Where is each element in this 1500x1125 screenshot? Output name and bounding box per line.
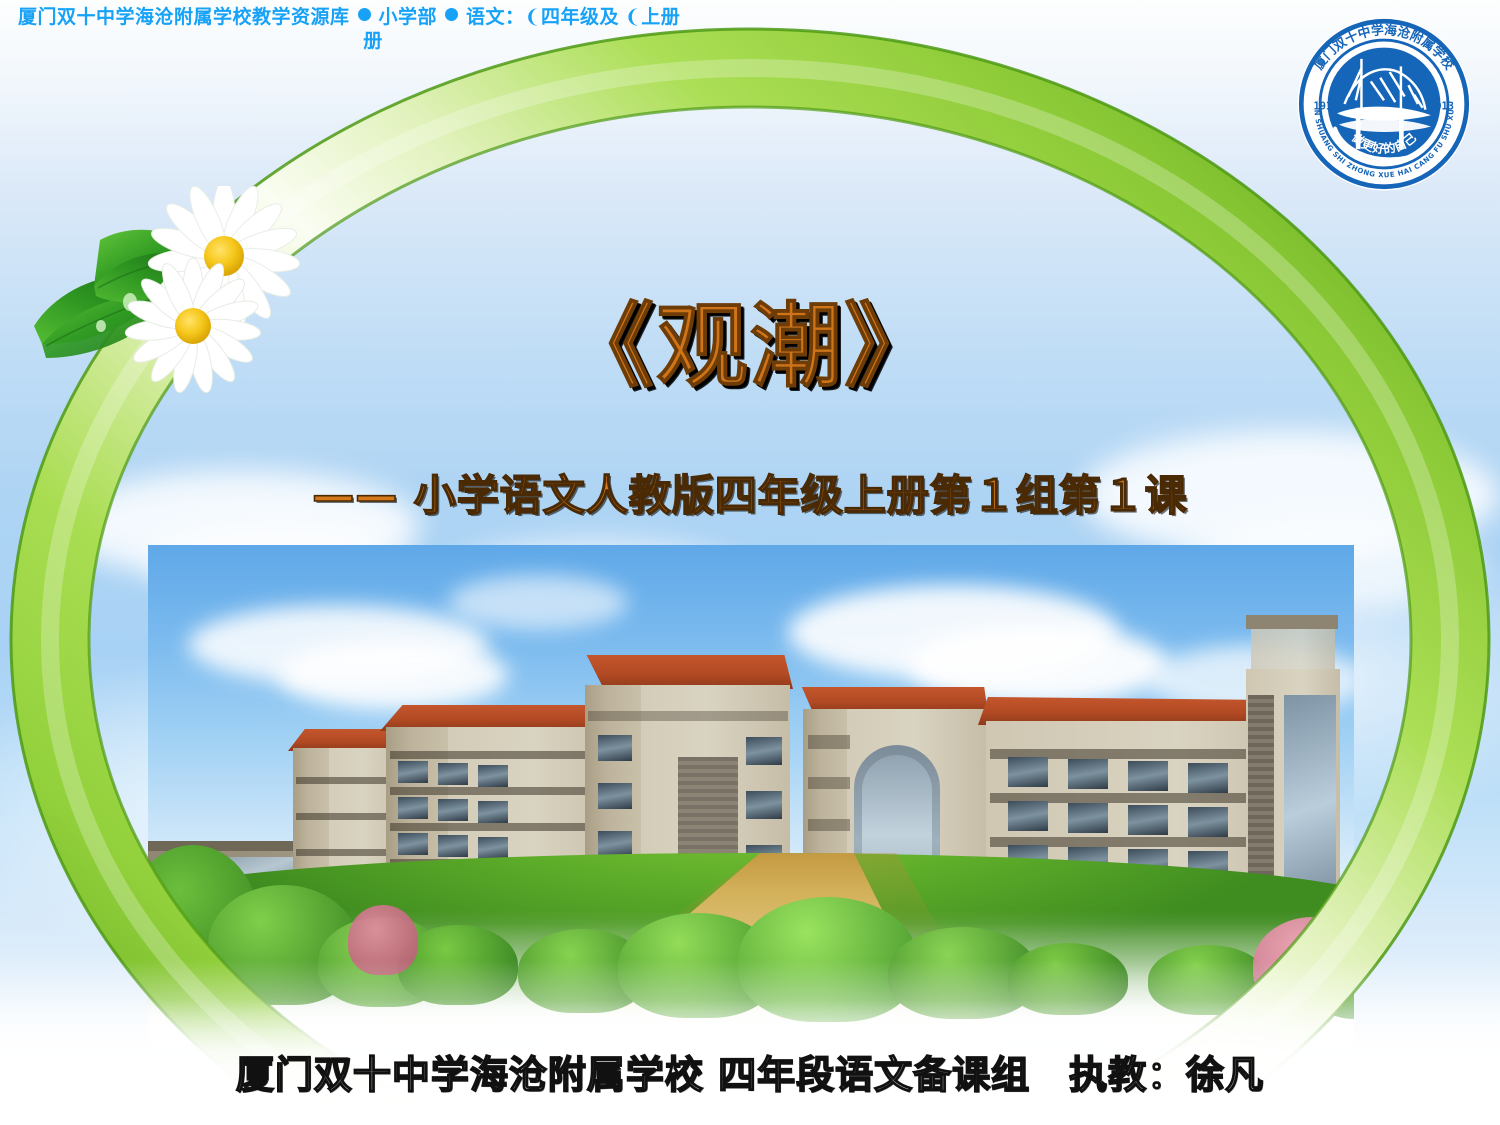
- emblem-year-left: 1919: [1314, 101, 1339, 113]
- left-bracket-icon: ❨: [525, 7, 541, 28]
- daisy-flowers: [28, 186, 328, 401]
- volume-label[interactable]: 上册: [641, 7, 680, 28]
- left-bracket-icon: ❨: [625, 7, 641, 28]
- volume-wrap-label: 册: [18, 30, 728, 54]
- presenter-credit: 厦门双十中学海沧附属学校 四年段语文备课组 执教：徐凡: [0, 1044, 1500, 1099]
- school-emblem: 厦门双十中学海沧附属学校 XIA MEN SHUANG SHI ZHONG XU…: [1290, 10, 1478, 198]
- section-label[interactable]: 小学部: [379, 7, 438, 28]
- resource-library-label[interactable]: 厦门双十中学海沧附属学校教学资源库: [18, 7, 350, 28]
- lesson-subtitle: —— 小学语文人教版四年级上册第１组第１课: [0, 462, 1500, 523]
- bullet-separator-icon: [445, 8, 458, 21]
- subject-label[interactable]: 语文：: [466, 7, 525, 28]
- presentation-slide: 厦门双十中学海沧附属学校教学资源库小学部语文：❨四年级及 ❨上册 册: [0, 0, 1500, 1125]
- campus-building-photo: [148, 545, 1354, 1043]
- emblem-year-right: 2013: [1429, 101, 1454, 113]
- header-breadcrumb: 厦门双十中学海沧附属学校教学资源库小学部语文：❨四年级及 ❨上册 册: [0, 0, 1500, 55]
- grade-label[interactable]: 四年级及: [541, 7, 619, 28]
- bullet-separator-icon: [358, 8, 371, 21]
